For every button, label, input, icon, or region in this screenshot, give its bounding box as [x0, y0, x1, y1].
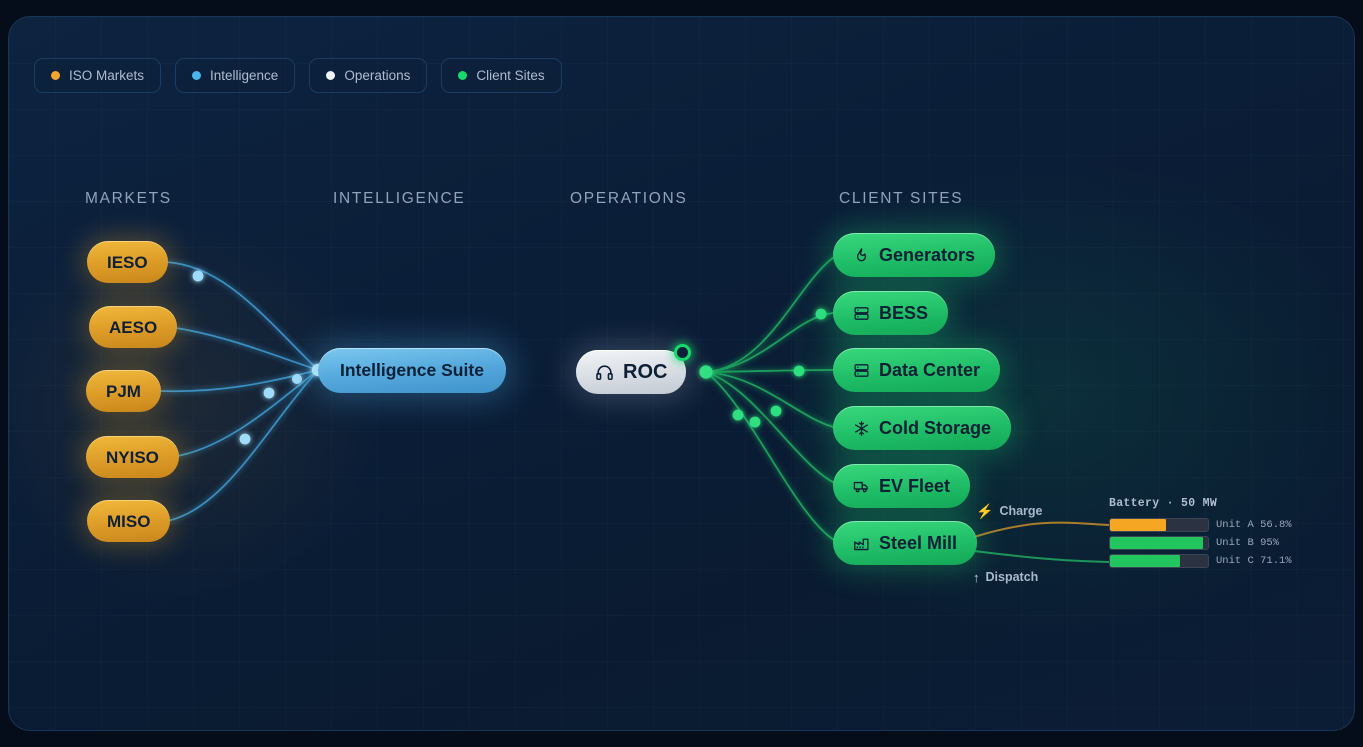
legend-label: ISO Markets	[69, 68, 144, 83]
market-node-miso[interactable]: MISO	[87, 500, 170, 542]
diagram-canvas: ISO Markets Intelligence Operations Clie…	[0, 0, 1363, 747]
flow-label-text: Dispatch	[986, 570, 1039, 584]
node-label: PJM	[106, 383, 141, 400]
client-node-ev-fleet[interactable]: EV Fleet	[833, 464, 970, 508]
node-label: Data Center	[879, 361, 980, 379]
market-node-aeso[interactable]: AESO	[89, 306, 177, 348]
status-dot-icon	[192, 71, 201, 80]
battery-track	[1109, 518, 1209, 532]
client-node-generators[interactable]: Generators	[833, 233, 995, 277]
client-node-cold-storage[interactable]: Cold Storage	[833, 406, 1011, 450]
status-dot-icon	[458, 71, 467, 80]
legend-chip-intelligence[interactable]: Intelligence	[175, 58, 295, 93]
battery-title: Battery · 50 MW	[1109, 497, 1292, 510]
battery-row: Unit B 95%	[1109, 536, 1292, 550]
green-glow	[794, 137, 1355, 657]
node-label: Intelligence Suite	[340, 362, 484, 380]
node-label: Steel Mill	[879, 534, 957, 552]
amber-glow	[8, 207, 389, 607]
battery-fill	[1110, 555, 1180, 567]
node-label: ROC	[623, 362, 667, 382]
flow-label-dispatch: ↑ Dispatch	[973, 570, 1038, 584]
market-node-pjm[interactable]: PJM	[86, 370, 161, 412]
arrow-up-icon: ↑	[973, 571, 980, 584]
headset-icon	[595, 363, 614, 382]
charge-flow-edge	[974, 523, 1109, 537]
legend-label: Client Sites	[476, 68, 544, 83]
status-dot-icon	[326, 71, 335, 80]
battery-row: Unit A 56.8%	[1109, 518, 1292, 532]
node-label: Generators	[879, 246, 975, 264]
node-label: NYISO	[106, 449, 159, 466]
battery-panel: Battery · 50 MW Unit A 56.8% Unit B 95% …	[1109, 497, 1292, 572]
legend-chip-client-sites[interactable]: Client Sites	[441, 58, 561, 93]
status-dot-icon	[51, 71, 60, 80]
server-rack-icon	[853, 362, 870, 379]
battery-fill	[1110, 537, 1203, 549]
battery-fill	[1110, 519, 1166, 531]
node-label: BESS	[879, 304, 928, 322]
node-label: MISO	[107, 513, 150, 530]
legend: ISO Markets Intelligence Operations Clie…	[34, 58, 562, 93]
market-node-nyiso[interactable]: NYISO	[86, 436, 179, 478]
column-header-intelligence: INTELLIGENCE	[333, 190, 465, 208]
battery-unit-label: Unit A 56.8%	[1216, 519, 1292, 531]
legend-chip-iso-markets[interactable]: ISO Markets	[34, 58, 161, 93]
roc-status-badge	[674, 344, 691, 361]
column-header-client-sites: CLIENT SITES	[839, 190, 963, 208]
node-label: Cold Storage	[879, 419, 991, 437]
intelligence-suite-node[interactable]: Intelligence Suite	[318, 348, 506, 393]
battery-row: Unit C 71.1%	[1109, 554, 1292, 568]
client-node-data-center[interactable]: Data Center	[833, 348, 1000, 392]
main-panel: ISO Markets Intelligence Operations Clie…	[8, 16, 1355, 731]
battery-track	[1109, 536, 1209, 550]
battery-unit-label: Unit C 71.1%	[1216, 555, 1292, 567]
bolt-icon: ⚡	[976, 504, 993, 518]
flame-icon	[853, 247, 870, 264]
column-header-operations: OPERATIONS	[570, 190, 687, 208]
legend-label: Operations	[344, 68, 410, 83]
flow-label-charge: ⚡ Charge	[976, 504, 1043, 518]
battery-track	[1109, 554, 1209, 568]
flow-label-text: Charge	[999, 504, 1042, 518]
battery-unit-label: Unit B 95%	[1216, 537, 1279, 549]
roc-node[interactable]: ROC	[576, 350, 686, 394]
column-header-markets: MARKETS	[85, 190, 172, 208]
snowflake-icon	[853, 420, 870, 437]
roc-hub-dot	[699, 365, 712, 378]
factory-icon	[853, 535, 870, 552]
node-label: AESO	[109, 319, 157, 336]
client-node-bess[interactable]: BESS	[833, 291, 948, 335]
legend-label: Intelligence	[210, 68, 278, 83]
market-node-ieso[interactable]: IESO	[87, 241, 168, 283]
client-node-steel-mill[interactable]: Steel Mill	[833, 521, 977, 565]
node-label: IESO	[107, 254, 148, 271]
legend-chip-operations[interactable]: Operations	[309, 58, 427, 93]
node-label: EV Fleet	[879, 477, 950, 495]
dispatch-flow-edge	[974, 551, 1109, 562]
server-rack-icon	[853, 305, 870, 322]
truck-icon	[853, 478, 870, 495]
